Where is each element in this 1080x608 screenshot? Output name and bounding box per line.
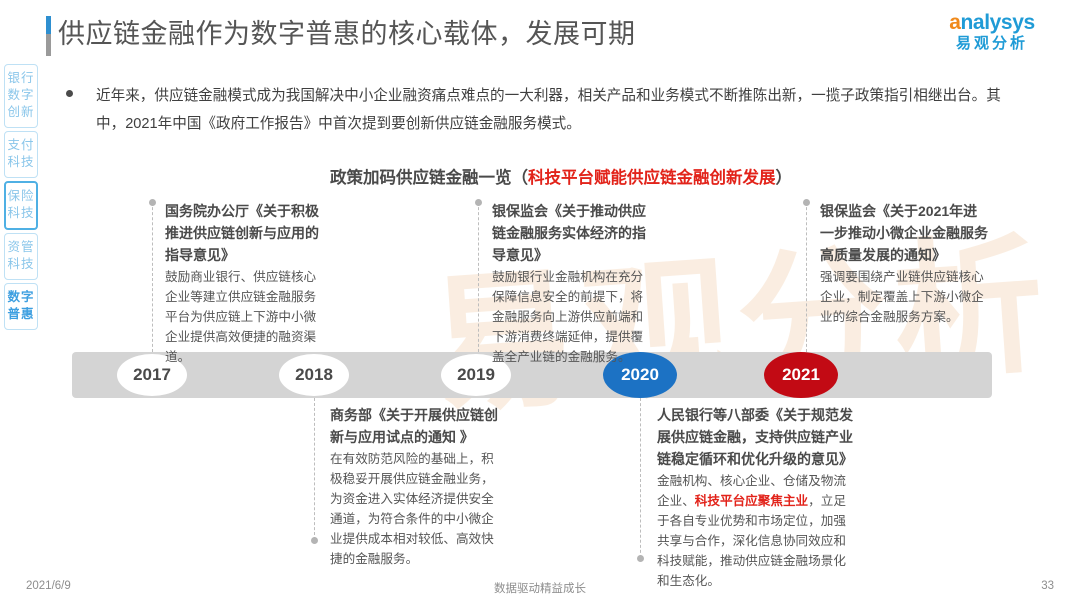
timeline-entry-2021: 银保监会《关于2021年进一步推动小微企业金融服务高质量发展的通知》 强调要围绕…	[820, 200, 990, 327]
entry-body: 强调要围绕产业链供应链核心企业，制定覆盖上下游小微企业的综合金融服务方案。	[820, 267, 990, 327]
timeline-node-label: 2021	[782, 365, 820, 385]
connector-dot-2019	[475, 199, 482, 206]
connector-2020	[640, 398, 641, 558]
sidebar-item-label: 保险科技	[6, 188, 36, 222]
timeline-node-label: 2017	[133, 365, 171, 385]
intro-bullet-text: 近年来，供应链金融模式成为我国解决中小企业融资痛点难点的一大利器，相关产品和业务…	[96, 82, 1016, 138]
chart-title-paren-open: （	[512, 169, 529, 187]
entry-body: 在有效防范风险的基础上，积极稳妥开展供应链金融业务，为资金进入实体经济提供安全通…	[330, 449, 500, 569]
connector-2018	[314, 398, 315, 540]
timeline-node-label: 2020	[621, 365, 659, 385]
title-accent-bar	[46, 16, 51, 56]
connector-2017	[152, 202, 153, 352]
sidebar-item-label: 数字普惠	[5, 289, 37, 323]
entry-body-post: ，立足于各自专业优势和市场定位，加强共享与合作，深化信息协同效应和科技赋能，推动…	[657, 494, 846, 588]
logo-wordmark: analysys	[932, 12, 1052, 34]
sidebar-item-label: 资管科技	[5, 239, 37, 273]
analysys-logo: analysys 易观分析	[932, 12, 1052, 60]
connector-2019	[478, 202, 479, 352]
page-header: 供应链金融作为数字普惠的核心载体，发展可期 analysys 易观分析	[0, 0, 1080, 66]
entry-title: 国务院办公厅《关于积极推进供应链创新与应用的指导意见》	[165, 200, 328, 266]
timeline-node-label: 2019	[457, 365, 495, 385]
logo-chinese-name: 易观分析	[932, 34, 1052, 54]
timeline-entry-2020: 人民银行等八部委《关于规范发展供应链金融，支持供应链产业链稳定循环和优化升级的意…	[657, 404, 857, 591]
chart-title-paren-close: ）	[776, 169, 793, 187]
timeline-node-2021[interactable]: 2021	[764, 352, 838, 398]
sidebar-item-payment-tech[interactable]: 支付科技	[4, 131, 38, 178]
sidebar-tabs: 银行数字创新 支付科技 保险科技 资管科技 数字普惠	[4, 64, 42, 333]
chart-title-main: 政策加码供应链金融一览	[330, 169, 512, 187]
entry-title: 银保监会《关于推动供应链金融服务实体经济的指导意见》	[492, 200, 655, 266]
entry-body-highlight: 科技平台应聚焦主业	[695, 494, 808, 508]
footer-slogan: 数据驱动精益成长	[0, 580, 1080, 596]
entry-title: 人民银行等八部委《关于规范发展供应链金融，支持供应链产业链稳定循环和优化升级的意…	[657, 404, 857, 470]
sidebar-item-insurance-tech[interactable]: 保险科技	[4, 181, 38, 230]
timeline-node-label: 2018	[295, 365, 333, 385]
page-title: 供应链金融作为数字普惠的核心载体，发展可期	[58, 12, 636, 51]
entry-body: 鼓励银行业金融机构在充分保障信息安全的前提下，将金融服务向上游供应前端和下游消费…	[492, 267, 655, 367]
timeline-entry-2017: 国务院办公厅《关于积极推进供应链创新与应用的指导意见》 鼓励商业银行、供应链核心…	[165, 200, 328, 367]
connector-dot-2018	[311, 537, 318, 544]
connector-dot-2020	[637, 555, 644, 562]
sidebar-item-digital-inclusive-finance[interactable]: 数字普惠	[4, 283, 38, 330]
logo-letter-a: a	[949, 11, 960, 34]
connector-2021	[806, 202, 807, 352]
intro-bullet: 近年来，供应链金融模式成为我国解决中小企业融资痛点难点的一大利器，相关产品和业务…	[66, 82, 1016, 138]
chart-title-highlight: 科技平台赋能供应链金融创新发展	[528, 169, 776, 187]
sidebar-item-label: 银行数字创新	[5, 70, 37, 121]
sidebar-item-bank-digital-innovation[interactable]: 银行数字创新	[4, 64, 38, 128]
entry-title: 银保监会《关于2021年进一步推动小微企业金融服务高质量发展的通知》	[820, 200, 990, 266]
page-footer: 2021/6/9 数据驱动精益成长 33	[0, 580, 1080, 602]
entry-body: 鼓励商业银行、供应链核心企业等建立供应链金融服务平台为供应链上下游中小微企业提供…	[165, 267, 328, 367]
bullet-dot-icon	[66, 90, 73, 97]
connector-dot-2021	[803, 199, 810, 206]
timeline-entry-2018: 商务部《关于开展供应链创新与应用试点的通知 》 在有效防范风险的基础上，积极稳妥…	[330, 404, 500, 569]
entry-title: 商务部《关于开展供应链创新与应用试点的通知 》	[330, 404, 500, 448]
connector-dot-2017	[149, 199, 156, 206]
entry-body: 金融机构、核心企业、仓储及物流企业、科技平台应聚焦主业，立足于各自专业优势和市场…	[657, 471, 857, 591]
chart-title: 政策加码供应链金融一览（科技平台赋能供应链金融创新发展）	[330, 164, 792, 188]
logo-word-rest: nalysys	[961, 11, 1035, 34]
footer-page-number: 33	[1041, 580, 1054, 592]
sidebar-item-asset-management-tech[interactable]: 资管科技	[4, 233, 38, 280]
timeline-entry-2019: 银保监会《关于推动供应链金融服务实体经济的指导意见》 鼓励银行业金融机构在充分保…	[492, 200, 655, 367]
sidebar-item-label: 支付科技	[5, 137, 37, 171]
